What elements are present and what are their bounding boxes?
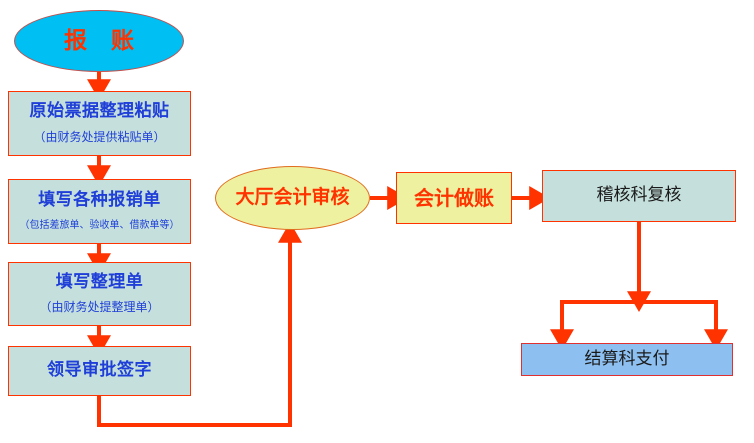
node-audit-department-recheck[interactable]: 稽核科复核 bbox=[542, 170, 736, 222]
node-step1-label: 原始票据整理粘贴 bbox=[30, 102, 170, 122]
node-step2-label: 填写各种报销单 bbox=[38, 191, 161, 211]
node-original-receipt-paste[interactable]: 原始票据整理粘贴 （由财务处提供粘贴单） bbox=[8, 91, 191, 156]
node-step1-note: （由财务处提供粘贴单） bbox=[33, 131, 165, 145]
node-review-label: 大厅会计审核 bbox=[235, 187, 349, 209]
node-fill-summary-form[interactable]: 填写整理单 （由财务处提整理单） bbox=[8, 262, 191, 326]
node-fill-reimbursement-forms[interactable]: 填写各种报销单 （包括差旅单、验收单、借款单等） bbox=[8, 179, 191, 244]
node-leader-approval-signature[interactable]: 领导审批签字 bbox=[8, 346, 191, 396]
node-start[interactable]: 报 账 bbox=[14, 10, 184, 72]
node-step4-label: 领导审批签字 bbox=[47, 361, 152, 381]
node-audit-label: 稽核科复核 bbox=[597, 186, 682, 206]
node-hall-accountant-review[interactable]: 大厅会计审核 bbox=[215, 166, 370, 230]
node-settlement-department-payment[interactable]: 结算科支付 bbox=[521, 343, 733, 376]
node-step2-note: （包括差旅单、验收单、借款单等） bbox=[20, 220, 180, 232]
node-step3-label: 填写整理单 bbox=[56, 273, 144, 293]
node-bookkeeping-label: 会计做账 bbox=[414, 187, 494, 210]
node-payment-label: 结算科支付 bbox=[585, 350, 670, 370]
node-start-label: 报 账 bbox=[56, 28, 142, 54]
node-step3-note: （由财务处提整理单） bbox=[39, 301, 159, 315]
node-accountant-bookkeeping[interactable]: 会计做账 bbox=[396, 172, 512, 224]
flowchart-canvas: 报 账 原始票据整理粘贴 （由财务处提供粘贴单） 填写各种报销单 （包括差旅单、… bbox=[0, 0, 754, 443]
